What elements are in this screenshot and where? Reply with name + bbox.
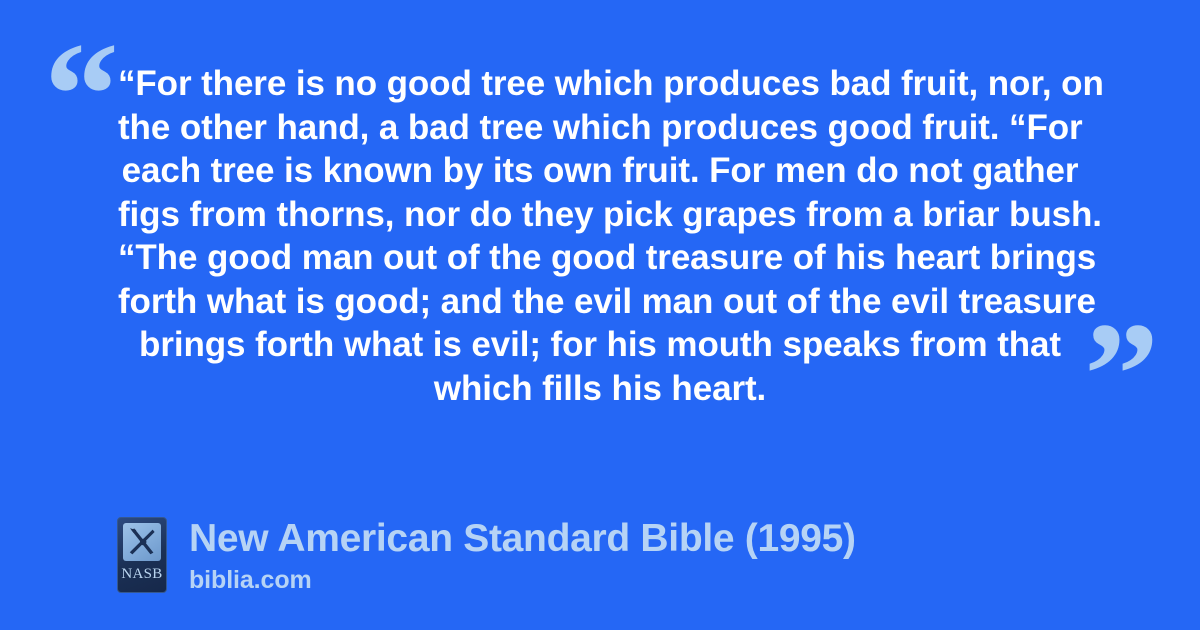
bible-version-title: New American Standard Bible (1995)	[189, 516, 856, 562]
source-site-label: biblia.com	[189, 566, 856, 594]
closing-quote-mark-icon: ”	[1084, 300, 1156, 450]
quote-line: “The good man out of the good treasure o…	[118, 236, 1082, 280]
quote-line: forth what is good; and the evil man out…	[118, 280, 1082, 324]
quote-line: brings forth what is evil; for his mouth…	[118, 323, 1082, 367]
quote-line: which fills his heart.	[118, 367, 1082, 411]
nasb-logo-label: NASB	[121, 567, 162, 582]
quote-line: “For there is no good tree which produce…	[118, 62, 1082, 106]
quote-text-block: “For there is no good tree which produce…	[118, 62, 1082, 410]
attribution-text-block: New American Standard Bible (1995) bibli…	[189, 516, 856, 594]
nasb-logo: NASB	[117, 517, 167, 593]
quote-line: the other hand, a bad tree which produce…	[118, 106, 1082, 150]
nasb-emblem-icon	[123, 523, 161, 561]
quote-line: each tree is known by its own fruit. For…	[118, 149, 1082, 193]
attribution-footer: NASB New American Standard Bible (1995) …	[117, 516, 856, 594]
opening-quote-mark-icon: “	[44, 20, 116, 170]
quote-line: figs from thorns, nor do they pick grape…	[118, 193, 1082, 237]
quote-card: “ “For there is no good tree which produ…	[0, 0, 1200, 630]
